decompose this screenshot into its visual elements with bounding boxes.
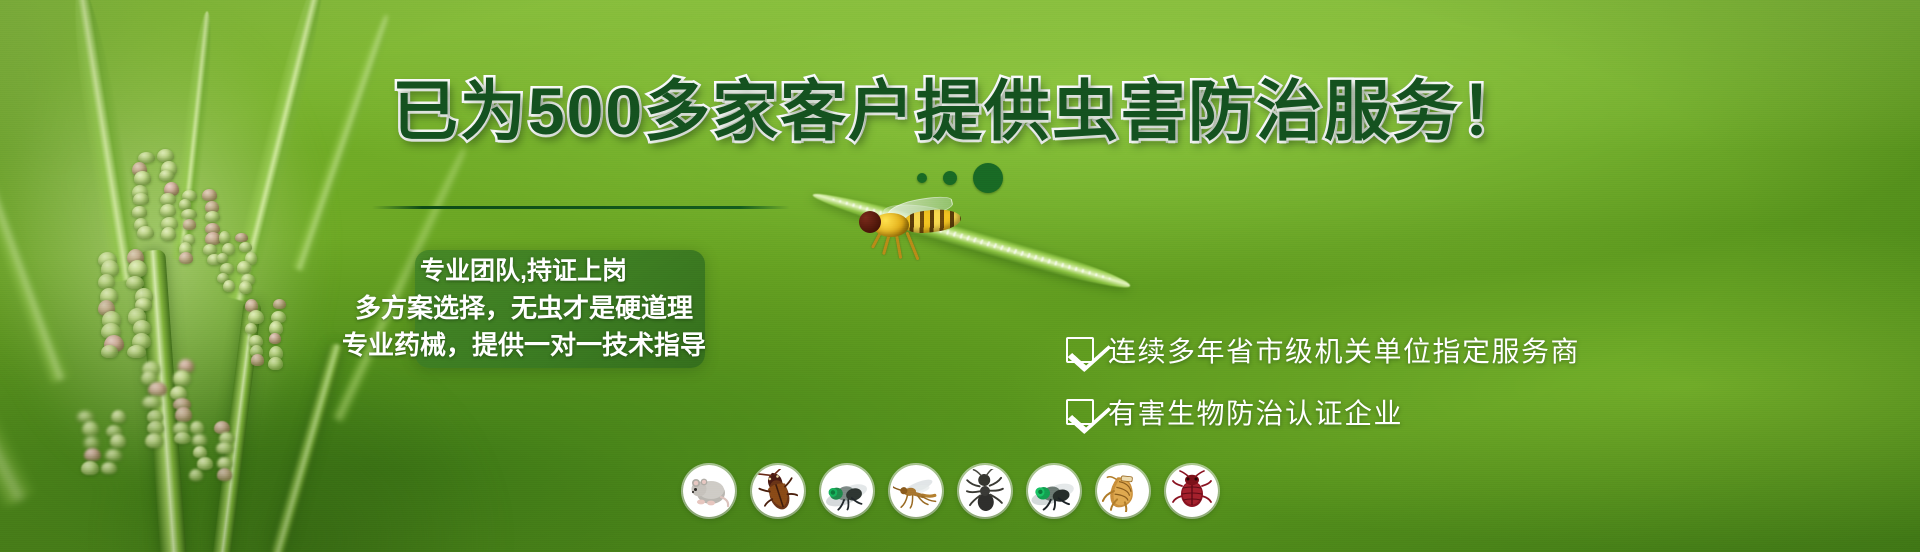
selling-point-2: 多方案选择，无虫才是硬道理 xyxy=(355,294,940,322)
rodent-icon[interactable] xyxy=(683,465,735,517)
credentials-checklist: 连续多年省市级机关单位指定服务商 有害生物防治认证企业 xyxy=(1066,330,1580,432)
selling-point-3: 专业药械，提供一对一技术指导 xyxy=(342,331,940,359)
credential-text-2: 有害生物防治认证企业 xyxy=(1108,392,1403,432)
flea-icon[interactable] xyxy=(1097,465,1149,517)
dot-small-icon xyxy=(917,173,927,183)
cockroach-icon[interactable] xyxy=(752,465,804,517)
page-title: 已为500多家客户提供虫害防治服务！ xyxy=(0,78,1920,144)
list-item: 有害生物防治认证企业 xyxy=(1066,392,1580,432)
list-item: 连续多年省市级机关单位指定服务商 xyxy=(1066,330,1580,370)
dot-large-icon xyxy=(973,163,1003,193)
credential-text-1: 连续多年省市级机关单位指定服务商 xyxy=(1108,330,1580,370)
housefly-icon[interactable] xyxy=(821,465,873,517)
ornament-dots-row xyxy=(0,163,1920,213)
selling-points-list: 专业团队,持证上岗 多方案选择，无虫才是硬道理 专业药械，提供一对一技术指导 xyxy=(420,258,940,359)
blowfly-icon[interactable] xyxy=(1028,465,1080,517)
checkbox-checked-icon xyxy=(1066,399,1094,425)
bedbug-icon[interactable] xyxy=(1166,465,1218,517)
pest-icon-row xyxy=(683,465,1218,517)
dot-medium-icon xyxy=(943,171,957,185)
pest-control-hero-banner: 已为500多家客户提供虫害防治服务！ 专业团队,持证上岗 多方案选择，无虫才是硬… xyxy=(0,0,1920,552)
mosquito-icon[interactable] xyxy=(890,465,942,517)
page-title-text: 已为500多家客户提供虫害防治服务！ xyxy=(392,74,1528,148)
ant-icon[interactable] xyxy=(959,465,1011,517)
selling-point-1: 专业团队,持证上岗 xyxy=(420,258,940,285)
divider-rule xyxy=(372,206,790,209)
checkbox-checked-icon xyxy=(1066,337,1094,363)
